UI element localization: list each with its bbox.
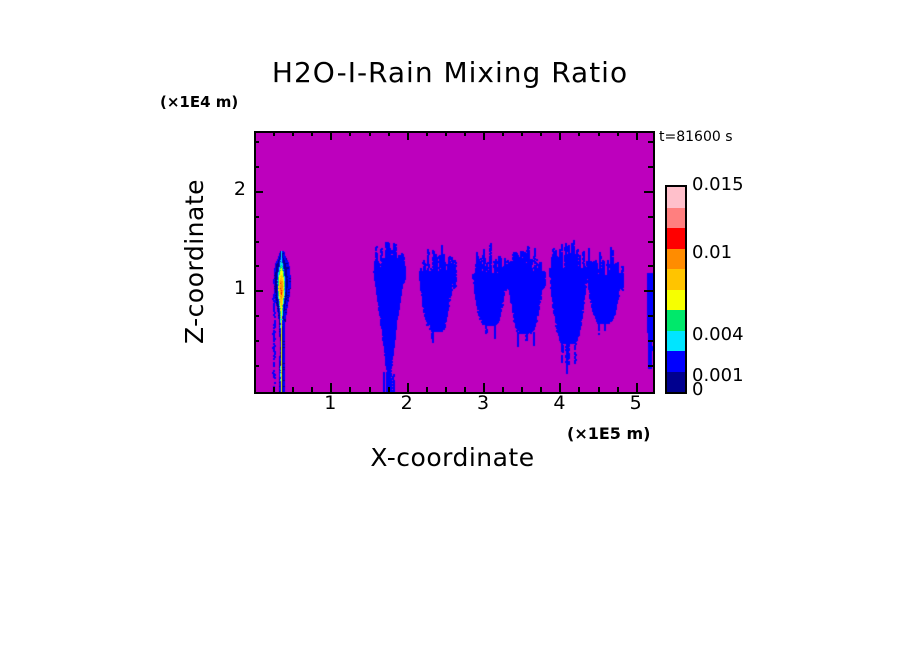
x-tick-top — [330, 131, 332, 140]
x-tick-bottom — [445, 387, 447, 392]
x-tick-label: 5 — [621, 392, 651, 414]
y-tick-left — [254, 265, 259, 267]
y-tick-left — [254, 365, 259, 367]
colorbar-band — [667, 228, 685, 249]
x-tick-top — [578, 131, 580, 136]
x-tick-top — [388, 131, 390, 136]
colorbar-band — [667, 331, 685, 352]
x-tick-top — [464, 131, 466, 136]
y-tick-right — [648, 340, 653, 342]
y-tick-left — [254, 166, 259, 168]
x-tick-bottom — [330, 383, 332, 392]
x-tick-top — [426, 131, 428, 136]
x-tick-bottom — [636, 383, 638, 392]
x-tick-label: 3 — [468, 392, 498, 414]
colorbar-band — [667, 290, 685, 311]
time-annotation: t=81600 s — [659, 129, 733, 145]
y-tick-right — [648, 365, 653, 367]
y-tick-left — [254, 315, 259, 317]
x-tick-bottom — [483, 383, 485, 392]
y-tick-label: 1 — [222, 277, 246, 299]
y-tick-left — [254, 191, 263, 193]
y-tick-right — [648, 141, 653, 143]
y-tick-left — [254, 141, 259, 143]
x-axis-unit-label: (×1E5 m) — [567, 424, 650, 443]
colorbar-tick-label: 0 — [692, 379, 703, 400]
colorbar-tick-label: 0.004 — [692, 324, 744, 345]
y-axis-title: Z-coordinate — [170, 170, 220, 352]
colorbar-band — [667, 249, 685, 270]
y-tick-right — [644, 290, 653, 292]
x-tick-bottom — [369, 387, 371, 392]
colorbar-tick-label: 0.015 — [692, 174, 744, 195]
x-tick-top — [369, 131, 371, 136]
colorbar-band — [667, 187, 685, 208]
x-tick-top — [445, 131, 447, 136]
y-tick-left — [254, 290, 263, 292]
colorbar-tick-label: 0.01 — [692, 242, 732, 263]
x-tick-bottom — [349, 387, 351, 392]
x-tick-top — [483, 131, 485, 140]
x-tick-top — [598, 131, 600, 136]
x-tick-bottom — [311, 387, 313, 392]
x-tick-top — [273, 131, 275, 136]
x-tick-top — [540, 131, 542, 136]
y-tick-label: 2 — [222, 178, 246, 200]
x-tick-bottom — [388, 387, 390, 392]
x-tick-top — [349, 131, 351, 136]
plot-area — [254, 131, 655, 394]
colorbar-band — [667, 269, 685, 290]
x-tick-bottom — [559, 383, 561, 392]
y-tick-right — [648, 315, 653, 317]
x-tick-bottom — [426, 387, 428, 392]
x-tick-bottom — [578, 387, 580, 392]
x-tick-top — [521, 131, 523, 136]
x-tick-bottom — [464, 387, 466, 392]
x-tick-bottom — [273, 387, 275, 392]
x-tick-bottom — [521, 387, 523, 392]
x-tick-bottom — [502, 387, 504, 392]
x-tick-top — [636, 131, 638, 140]
y-tick-right — [648, 241, 653, 243]
y-tick-right — [644, 191, 653, 193]
x-tick-top — [559, 131, 561, 140]
colorbar-band — [667, 310, 685, 331]
x-tick-top — [292, 131, 294, 136]
x-tick-top — [407, 131, 409, 140]
colorbar-band — [667, 351, 685, 372]
x-tick-bottom — [598, 387, 600, 392]
x-axis-title: X-coordinate — [254, 443, 651, 472]
x-tick-bottom — [292, 387, 294, 392]
x-tick-label: 4 — [544, 392, 574, 414]
y-axis-unit-label: (×1E4 m) — [160, 93, 238, 111]
x-tick-top — [617, 131, 619, 136]
y-tick-left — [254, 340, 259, 342]
x-tick-top — [311, 131, 313, 136]
x-tick-label: 1 — [315, 392, 345, 414]
y-tick-right — [648, 216, 653, 218]
x-tick-bottom — [540, 387, 542, 392]
y-axis-title-text: Z-coordinate — [181, 178, 210, 343]
colorbar-band — [667, 372, 685, 393]
x-tick-label: 2 — [392, 392, 422, 414]
colorbar — [665, 185, 687, 394]
y-tick-left — [254, 241, 259, 243]
x-tick-top — [502, 131, 504, 136]
colorbar-band — [667, 208, 685, 229]
x-tick-bottom — [617, 387, 619, 392]
y-tick-right — [648, 265, 653, 267]
x-tick-bottom — [407, 383, 409, 392]
heatmap-canvas — [256, 133, 653, 392]
figure-canvas: H2O-I-Rain Mixing Ratio (×1E4 m) t=81600… — [0, 0, 904, 654]
y-tick-left — [254, 216, 259, 218]
page-title: H2O-I-Rain Mixing Ratio — [0, 56, 902, 89]
y-tick-right — [648, 166, 653, 168]
